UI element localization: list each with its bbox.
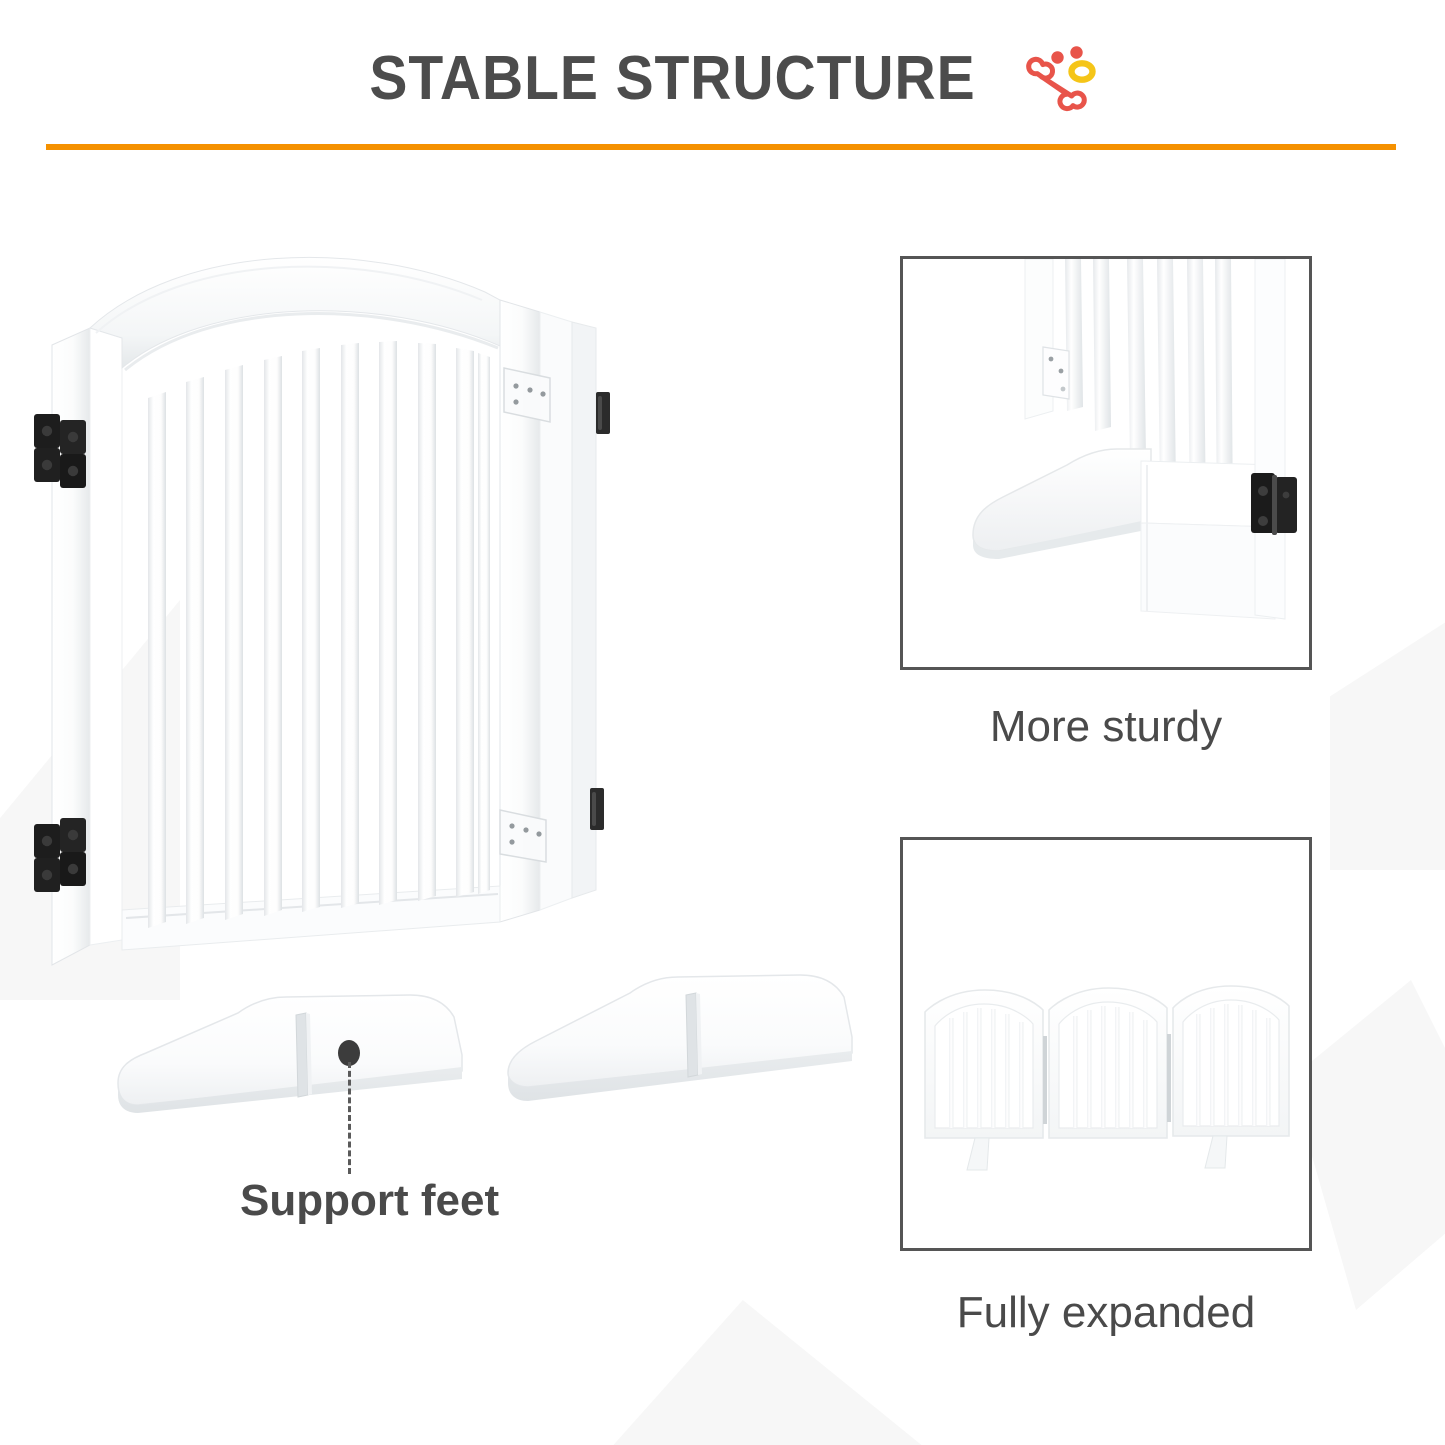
three-panel-gate-expanded — [903, 840, 1309, 1248]
hinge-left-lower — [34, 818, 86, 892]
support-foot-right — [508, 975, 852, 1101]
gate-section-2 — [1049, 988, 1167, 1138]
panel-more-sturdy — [900, 256, 1312, 670]
background-watermark-right-upper — [1330, 590, 1445, 870]
background-watermark-right-lower — [1290, 980, 1445, 1310]
support-feet-pair — [110, 955, 870, 1145]
gate-hinge-2 — [1167, 1034, 1171, 1122]
panel-caption-more-sturdy: More sturdy — [900, 702, 1312, 752]
dog-bone-icon — [1024, 44, 1102, 112]
hinge-left-upper — [34, 414, 86, 488]
header: STABLE STRUCTURE — [0, 38, 1445, 118]
gate-section-3 — [1173, 986, 1289, 1168]
hinge-right-upper — [596, 392, 610, 434]
gate-section-1 — [925, 990, 1043, 1170]
accent-divider — [46, 144, 1396, 150]
background-watermark-bottom — [600, 1300, 940, 1445]
page-title: STABLE STRUCTURE — [369, 43, 975, 114]
infographic-page: STABLE STRUCTURE — [0, 0, 1445, 1445]
support-feet-callout-line — [348, 1062, 351, 1174]
panel-fully-expanded — [900, 837, 1312, 1251]
hinge-closeup — [1251, 473, 1297, 535]
support-foot-left — [118, 995, 462, 1113]
gate-hinge-1 — [1043, 1036, 1047, 1124]
gate-base-hinge-closeup — [903, 259, 1309, 667]
support-feet-label: Support feet — [240, 1176, 499, 1226]
panel-caption-fully-expanded: Fully expanded — [900, 1288, 1312, 1338]
hinge-right-lower — [590, 788, 604, 830]
hero-product-image — [30, 250, 670, 1010]
